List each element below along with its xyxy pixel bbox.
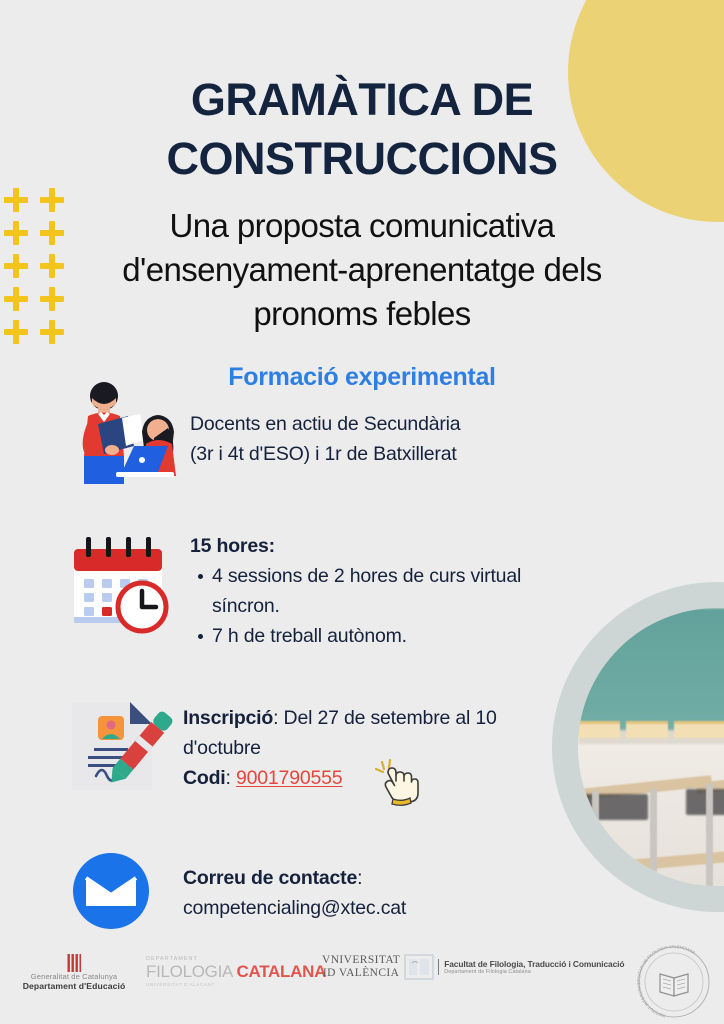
plus-icon <box>2 285 30 313</box>
logo-institut-filologia-valenciana: INSTITUT INTERUNIVERSITARI DE FILOLOGIA … <box>636 944 712 1024</box>
generalitat-line-2: Departament d'Educació <box>14 981 134 991</box>
uv-crest-icon <box>404 954 434 980</box>
logo-universitat-de-valencia: VNIVERSITAT ID VALÈNCIA Facultat de Filo… <box>322 954 624 980</box>
footer-logos: Generalitat de Catalunya Departament d'E… <box>0 940 724 1024</box>
list-item: 4 sessions de 2 hores de curs virtual sí… <box>212 561 590 621</box>
contact-email[interactable]: competencialing@xtec.cat <box>183 893 583 923</box>
registration-label: Inscripció <box>183 707 273 729</box>
plus-icon <box>2 186 30 214</box>
desk-leg <box>650 789 657 886</box>
plus-icon <box>2 219 30 247</box>
hours-heading: 15 hores: <box>190 531 590 561</box>
uv-faculty-block: Facultat de Filologia, Traducció i Comun… <box>438 959 624 975</box>
contact-label: Correu de contacte <box>183 867 357 889</box>
code-label: Codi <box>183 767 226 789</box>
calendar-clock-icon <box>66 527 178 644</box>
plus-icon <box>2 318 30 346</box>
filologia-sub: UNIVERSITAT D'ALACANT <box>146 982 326 987</box>
contact-colon: : <box>357 867 362 889</box>
list-item: 7 h de treball autònom. <box>212 621 590 651</box>
desk-leg <box>706 783 713 886</box>
registration-text: Inscripció: Del 27 de setembre al 10 d'o… <box>183 703 543 793</box>
logo-filologia-catalana: DEPARTAMENT FILOLOGIA CATALANA UNIVERSIT… <box>146 956 326 987</box>
code-separator: : <box>226 767 236 789</box>
poster-subtitle-line-2: d'ensenyament-aprenentatge dels <box>62 248 662 292</box>
book-on-ledge <box>626 721 668 738</box>
students-illustration-icon <box>64 380 188 489</box>
classroom-photo <box>578 608 724 886</box>
poster-subtitle: Una proposta comunicativa d'ensenyament-… <box>62 204 662 336</box>
contact-text: Correu de contacte: competencialing@xtec… <box>183 863 583 923</box>
audience-line-1: Docents en actiu de Secundària <box>190 409 590 439</box>
uv-faculty: Facultat de Filologia, Traducció i Comun… <box>444 959 624 969</box>
poster-title: GRAMÀTICA DE CONSTRUCCIONS <box>0 70 724 188</box>
uv-wordmark: VNIVERSITAT ID VALÈNCIA <box>322 954 400 980</box>
plus-icon <box>2 252 30 280</box>
logo-generalitat-de-catalunya: Generalitat de Catalunya Departament d'E… <box>14 952 134 991</box>
registration-code: Codi: 9001790555 <box>183 763 543 793</box>
book-on-ledge <box>674 721 724 738</box>
generalitat-line-1: Generalitat de Catalunya <box>14 972 134 981</box>
poster-subtitle-line-3: pronoms febles <box>62 292 662 336</box>
poster-title-line-1: GRAMÀTICA DE <box>0 70 724 129</box>
hours-text: 15 hores: 4 sessions de 2 hores de curs … <box>190 531 590 651</box>
contact-label-row: Correu de contacte: <box>183 863 583 893</box>
uv-line-2: ID VALÈNCIA <box>322 967 400 980</box>
poster-subtitle-line-1: Una proposta comunicativa <box>62 204 662 248</box>
uv-department: Departament de Filologia Catalana <box>444 969 624 975</box>
catalana-word: CATALANA <box>237 962 327 981</box>
click-hand-cursor-icon <box>374 756 422 811</box>
document-pen-icon <box>68 698 176 799</box>
poster-canvas: GRAMÀTICA DE CONSTRUCCIONS Una proposta … <box>0 0 724 1024</box>
chair-back <box>686 789 724 815</box>
book-on-ledge <box>578 721 620 738</box>
audience-line-2: (3r i 4t d'ESO) i 1r de Batxillerat <box>190 439 590 469</box>
registration-dates: Inscripció: Del 27 de setembre al 10 d'o… <box>183 703 543 763</box>
filologia-main: FILOLOGIA CATALANA <box>146 962 326 982</box>
open-book-icon <box>660 974 688 996</box>
hours-bullet-list: 4 sessions de 2 hores de curs virtual sí… <box>190 561 590 651</box>
filologia-word: FILOLOGIA <box>146 962 237 981</box>
uv-line-1: VNIVERSITAT <box>322 954 400 967</box>
audience-text: Docents en actiu de Secundària (3r i 4t … <box>190 409 590 469</box>
registration-code-value[interactable]: 9001790555 <box>236 767 342 789</box>
desk-leg <box>592 791 599 886</box>
poster-title-line-2: CONSTRUCCIONS <box>0 129 724 188</box>
chalkboard <box>578 608 724 736</box>
envelope-icon <box>70 850 152 937</box>
